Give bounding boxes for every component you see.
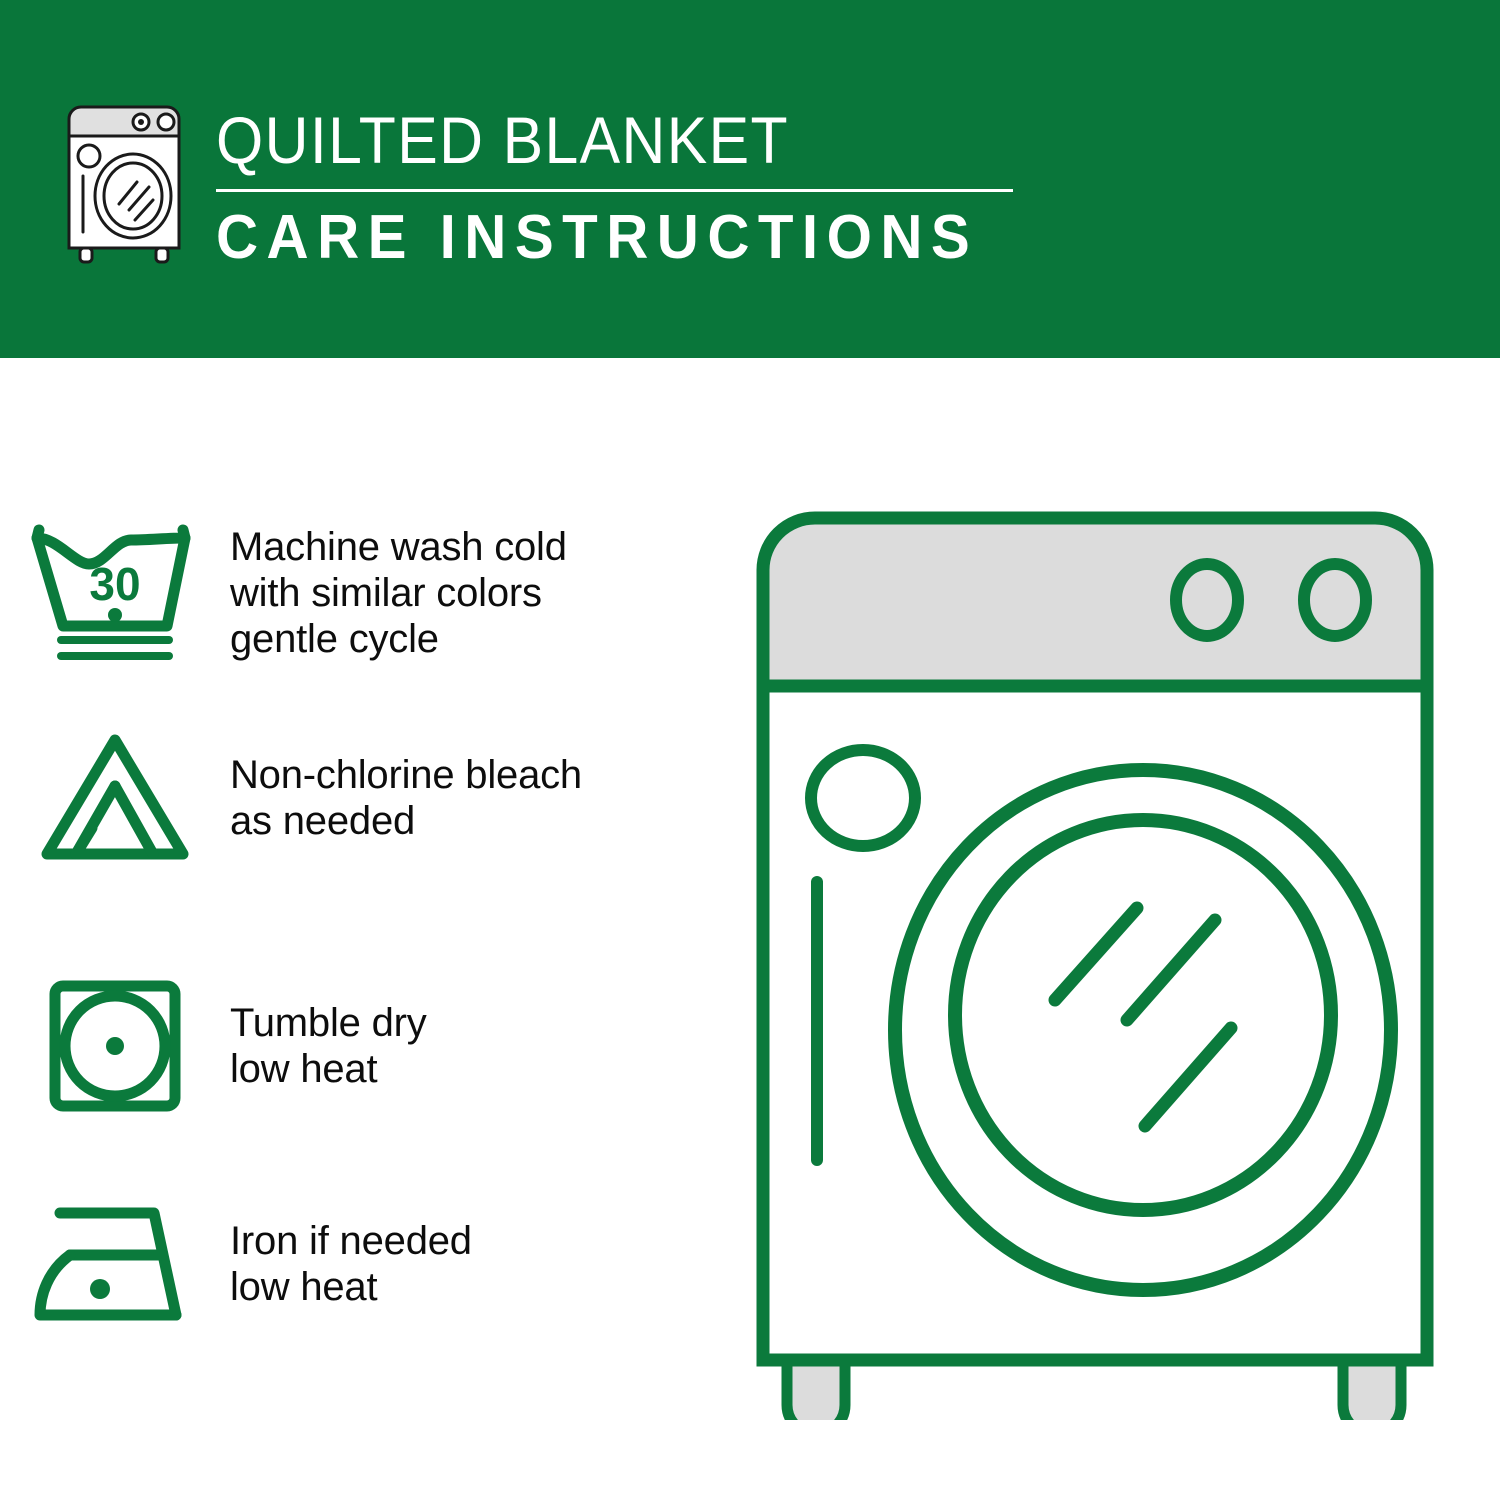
- washer-door-inner-ring: [955, 820, 1331, 1210]
- care-icon-slot-dry: [0, 976, 230, 1116]
- wash-tub-30-gentle-icon: 30: [27, 518, 203, 668]
- title-divider: [216, 189, 1013, 192]
- header-banner: QUILTED BLANKET CARE INSTRUCTIONS: [0, 0, 1500, 358]
- header-title-block: QUILTED BLANKET CARE INSTRUCTIONS: [216, 100, 1016, 274]
- iron-low-heat-icon: [30, 1199, 200, 1329]
- washer-knob-left[interactable]: [1176, 564, 1238, 636]
- page-subtitle: CARE INSTRUCTIONS: [216, 202, 968, 274]
- care-icon-slot-bleach: [0, 728, 230, 868]
- page-title: QUILTED BLANKET: [216, 100, 952, 180]
- care-text-wash: Machine wash cold with similar colors ge…: [230, 524, 567, 662]
- care-text-iron: Iron if needed low heat: [230, 1218, 472, 1310]
- care-instructions-list: 30 Machine wash cold with similar colors…: [0, 358, 740, 1500]
- washer-knob-right[interactable]: [1304, 564, 1366, 636]
- non-chlorine-bleach-triangle-icon: [35, 728, 195, 868]
- tumble-dry-low-heat-icon: [45, 976, 185, 1116]
- washer-dispenser-dial[interactable]: [811, 750, 915, 846]
- care-item-wash: 30 Machine wash cold with similar colors…: [0, 498, 740, 688]
- care-text-dry: Tumble dry low heat: [230, 1000, 427, 1092]
- care-item-dry: Tumble dry low heat: [0, 958, 740, 1133]
- wash-temp-label: 30: [89, 558, 140, 610]
- care-item-iron: Iron if needed low heat: [0, 1176, 740, 1351]
- care-icon-slot-wash: 30: [0, 518, 230, 668]
- front-load-washing-machine-illustration: [745, 500, 1445, 1420]
- washing-machine-icon: [63, 104, 195, 266]
- care-text-bleach: Non-chlorine bleach as needed: [230, 752, 582, 844]
- care-item-bleach: Non-chlorine bleach as needed: [0, 710, 740, 885]
- care-icon-slot-iron: [0, 1199, 230, 1329]
